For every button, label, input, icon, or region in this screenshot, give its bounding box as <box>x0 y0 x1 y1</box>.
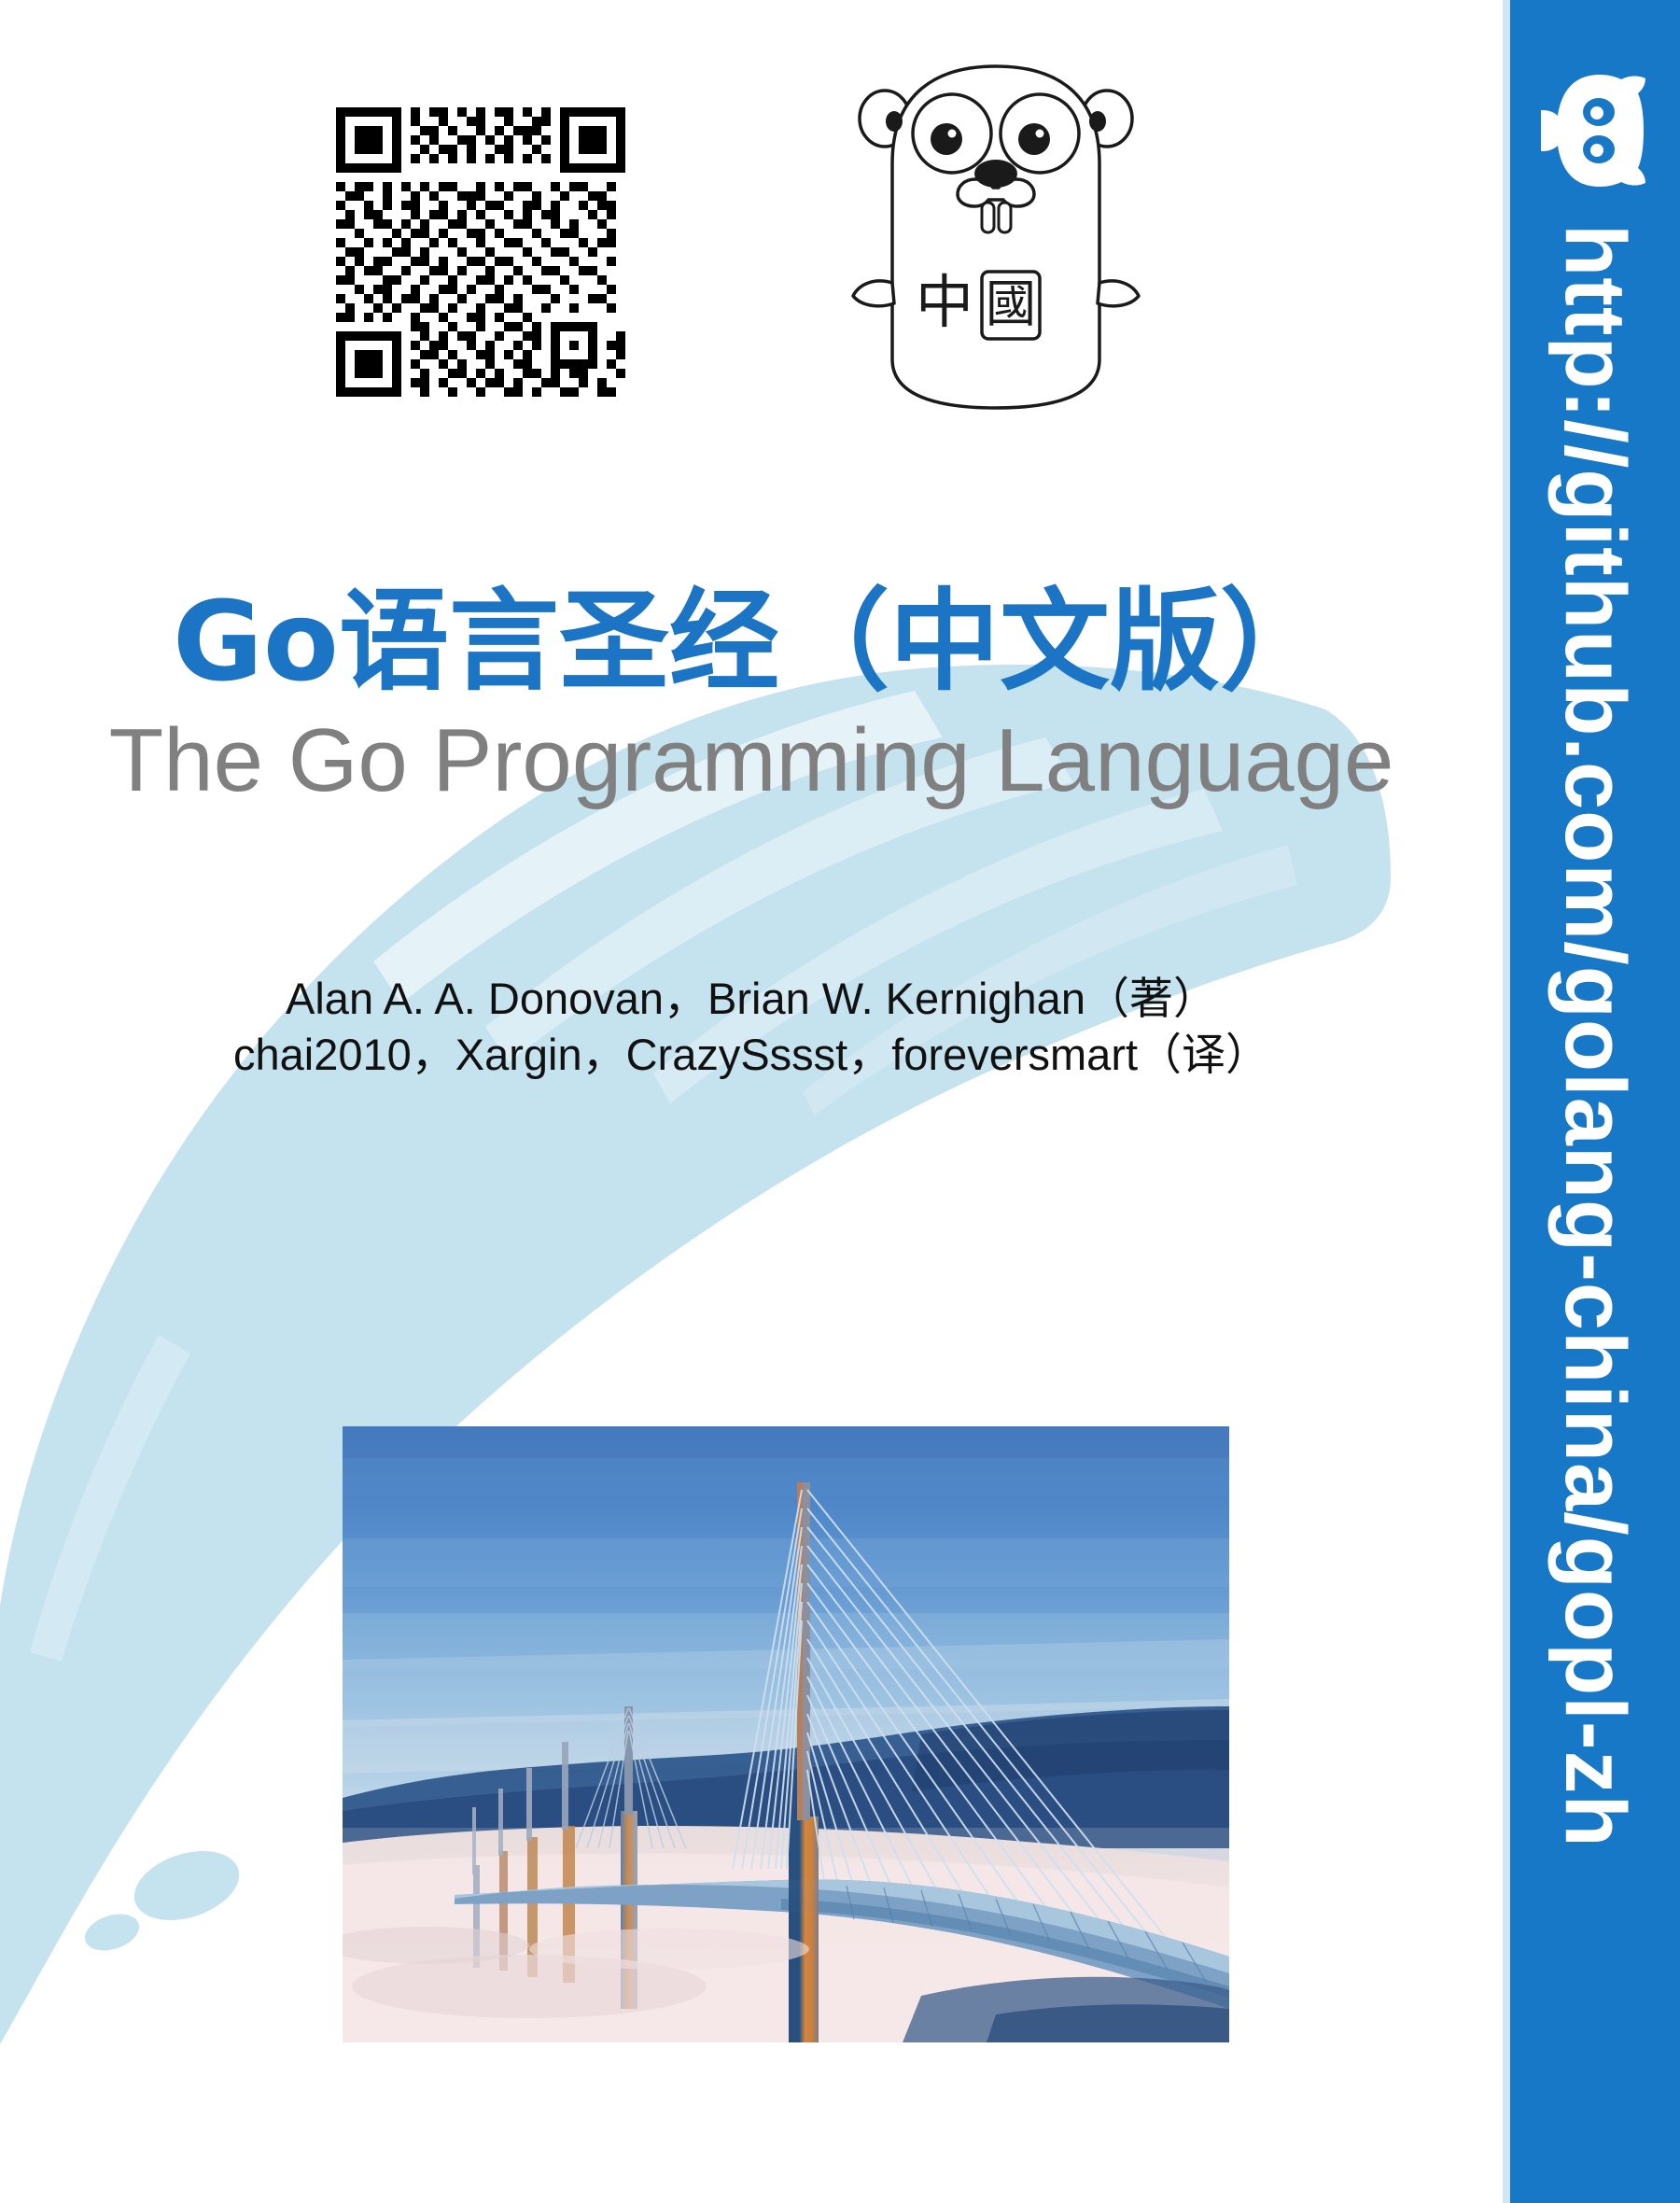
github-octocat-icon <box>1539 75 1651 187</box>
spine-url-text[interactable]: http://github.com/golang-china/gopl-zh <box>1510 224 1680 2184</box>
translators-line: chai2010，Xargin，CrazySssst，foreversmart（… <box>0 1027 1503 1083</box>
spine-panel: http://github.com/golang-china/gopl-zh <box>1510 0 1680 2203</box>
book-cover: 中 國 Go语言圣经（中文版） The Go Programming Langu… <box>0 0 1680 2203</box>
page-title-chinese: Go语言圣经（中文版） <box>0 579 1503 706</box>
title-block: Go语言圣经（中文版） The Go Programming Language <box>0 579 1503 813</box>
spine-edge-line <box>1503 0 1510 2203</box>
authors-line: Alan A. A. Donovan，Brian W. Kernighan（著） <box>0 971 1503 1027</box>
gopher-body-text: 中 <box>916 268 973 336</box>
spine-url-label: http://github.com/golang-china/gopl-zh <box>1510 224 1680 1848</box>
page-subtitle-english: The Go Programming Language <box>0 708 1503 813</box>
svg-text:國: 國 <box>986 274 1036 333</box>
credits-block: Alan A. A. Donovan，Brian W. Kernighan（著）… <box>0 971 1503 1083</box>
go-gopher-mascot: 中 國 <box>840 51 1148 415</box>
millau-viaduct-bridge-photo <box>343 1426 1229 2042</box>
qr-code-icon <box>327 98 635 406</box>
